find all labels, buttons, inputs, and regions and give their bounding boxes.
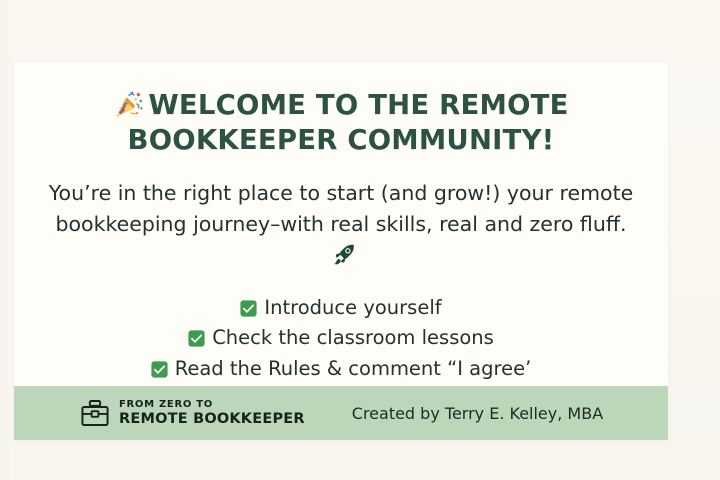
page-title: WELCOME TO THE REMOTE BOOKKEEPER COMMUNI… — [48, 88, 634, 157]
slide-canvas: WELCOME TO THE REMOTE BOOKKEEPER COMMUNI… — [0, 0, 720, 480]
checklist-item-label: Read the Rules & comment “I agree’ — [175, 357, 532, 380]
brand-wordmark: FROM ZERO TO REMOTE BOOKKEEPER — [119, 400, 305, 427]
welcome-card: WELCOME TO THE REMOTE BOOKKEEPER COMMUNI… — [14, 62, 668, 440]
checklist-item-label: Introduce yourself — [264, 296, 441, 319]
brand-lockup: FROM ZERO TO REMOTE BOOKKEEPER — [80, 398, 305, 428]
checklist-item: Check the classroom lessons — [48, 323, 634, 354]
brand-name: REMOTE BOOKKEEPER — [119, 412, 305, 427]
card-body: WELCOME TO THE REMOTE BOOKKEEPER COMMUNI… — [14, 62, 668, 386]
onboarding-checklist: Introduce yourself Check the classroom l… — [48, 293, 634, 385]
party-popper-emoji — [113, 89, 144, 120]
author-credit: Created by Terry E. Kelley, MBA — [352, 404, 603, 423]
white-check-mark-emoji — [240, 296, 257, 313]
white-check-mark-emoji — [151, 357, 168, 374]
brand-tagline: FROM ZERO TO — [119, 400, 305, 410]
checklist-item: Introduce yourself — [48, 293, 634, 324]
rocket-emoji — [332, 242, 357, 267]
intro-paragraph: You’re in the right place to start (and … — [48, 178, 634, 270]
checklist-item: Read the Rules & comment “I agree’ — [48, 354, 634, 385]
page-title-text: WELCOME TO THE REMOTE BOOKKEEPER COMMUNI… — [128, 89, 569, 156]
briefcase-icon — [80, 398, 110, 428]
white-check-mark-emoji — [188, 326, 205, 343]
checklist-item-label: Check the classroom lessons — [212, 326, 494, 349]
card-footer: FROM ZERO TO REMOTE BOOKKEEPER Created b… — [14, 386, 668, 440]
intro-paragraph-text: You’re in the right place to start (and … — [49, 181, 634, 236]
